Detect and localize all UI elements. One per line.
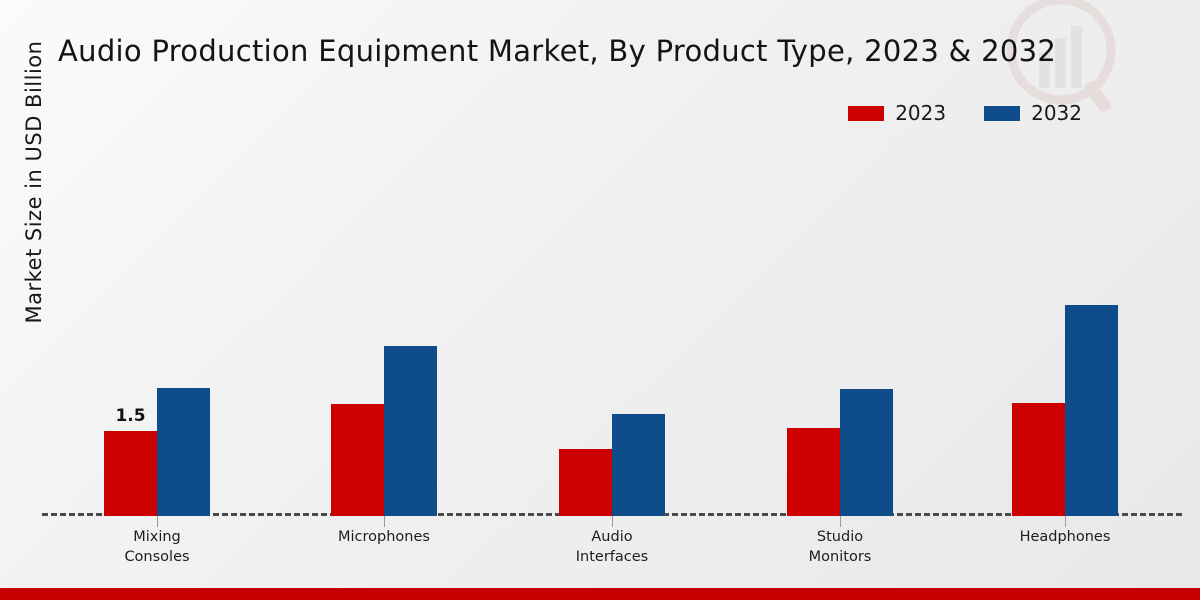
axis-tick [157, 516, 158, 527]
page-title: Audio Production Equipment Market, By Pr… [58, 34, 1056, 68]
axis-tick [840, 516, 841, 527]
bar-group [331, 346, 437, 516]
chart-legend: 2023 2032 [848, 103, 1082, 123]
legend-item-2023[interactable]: 2023 [848, 103, 946, 123]
bar-2032-audio-interfaces[interactable] [612, 414, 665, 516]
bar-2032-headphones[interactable] [1065, 305, 1118, 516]
legend-swatch-blue-icon [984, 106, 1020, 121]
legend-swatch-red-icon [848, 106, 884, 121]
legend-label-2023: 2023 [895, 103, 946, 123]
bar-2032-mixing-consoles[interactable] [157, 388, 210, 516]
category-label-line: Mixing [77, 528, 237, 548]
category-label-line: Studio [760, 528, 920, 548]
category-label-line: Monitors [760, 548, 920, 568]
chart-page: Audio Production Equipment Market, By Pr… [0, 0, 1200, 600]
bar-group: 1.5 [104, 388, 210, 516]
bar-2032-studio-monitors[interactable] [840, 389, 893, 516]
category-label-line: Headphones [985, 528, 1145, 548]
bar-2023-mixing-consoles[interactable]: 1.5 [104, 431, 157, 516]
category-label-audio-interfaces: AudioInterfaces [532, 528, 692, 567]
category-label-line: Interfaces [532, 548, 692, 568]
legend-label-2032: 2032 [1031, 103, 1082, 123]
bar-value-label: 1.5 [115, 406, 145, 426]
plot-area: 1.5 MixingConsolesMicrophonesAudioInterf… [42, 140, 1182, 516]
category-label-line: Microphones [304, 528, 464, 548]
category-label-studio-monitors: StudioMonitors [760, 528, 920, 567]
footer-accent-bar [0, 588, 1200, 600]
bar-2023-audio-interfaces[interactable] [559, 449, 612, 516]
bar-group [1012, 305, 1118, 516]
bar-group [787, 389, 893, 516]
legend-item-2032[interactable]: 2032 [984, 103, 1082, 123]
axis-tick [384, 516, 385, 527]
category-label-mixing-consoles: MixingConsoles [77, 528, 237, 567]
axis-tick [612, 516, 613, 527]
category-label-line: Audio [532, 528, 692, 548]
bar-2023-studio-monitors[interactable] [787, 428, 840, 516]
axis-tick [1065, 516, 1066, 527]
bar-group [559, 414, 665, 516]
category-label-line: Consoles [77, 548, 237, 568]
category-label-microphones: Microphones [304, 528, 464, 548]
bar-2023-microphones[interactable] [331, 404, 384, 516]
category-label-headphones: Headphones [985, 528, 1145, 548]
bar-2023-headphones[interactable] [1012, 403, 1065, 516]
bar-2032-microphones[interactable] [384, 346, 437, 516]
